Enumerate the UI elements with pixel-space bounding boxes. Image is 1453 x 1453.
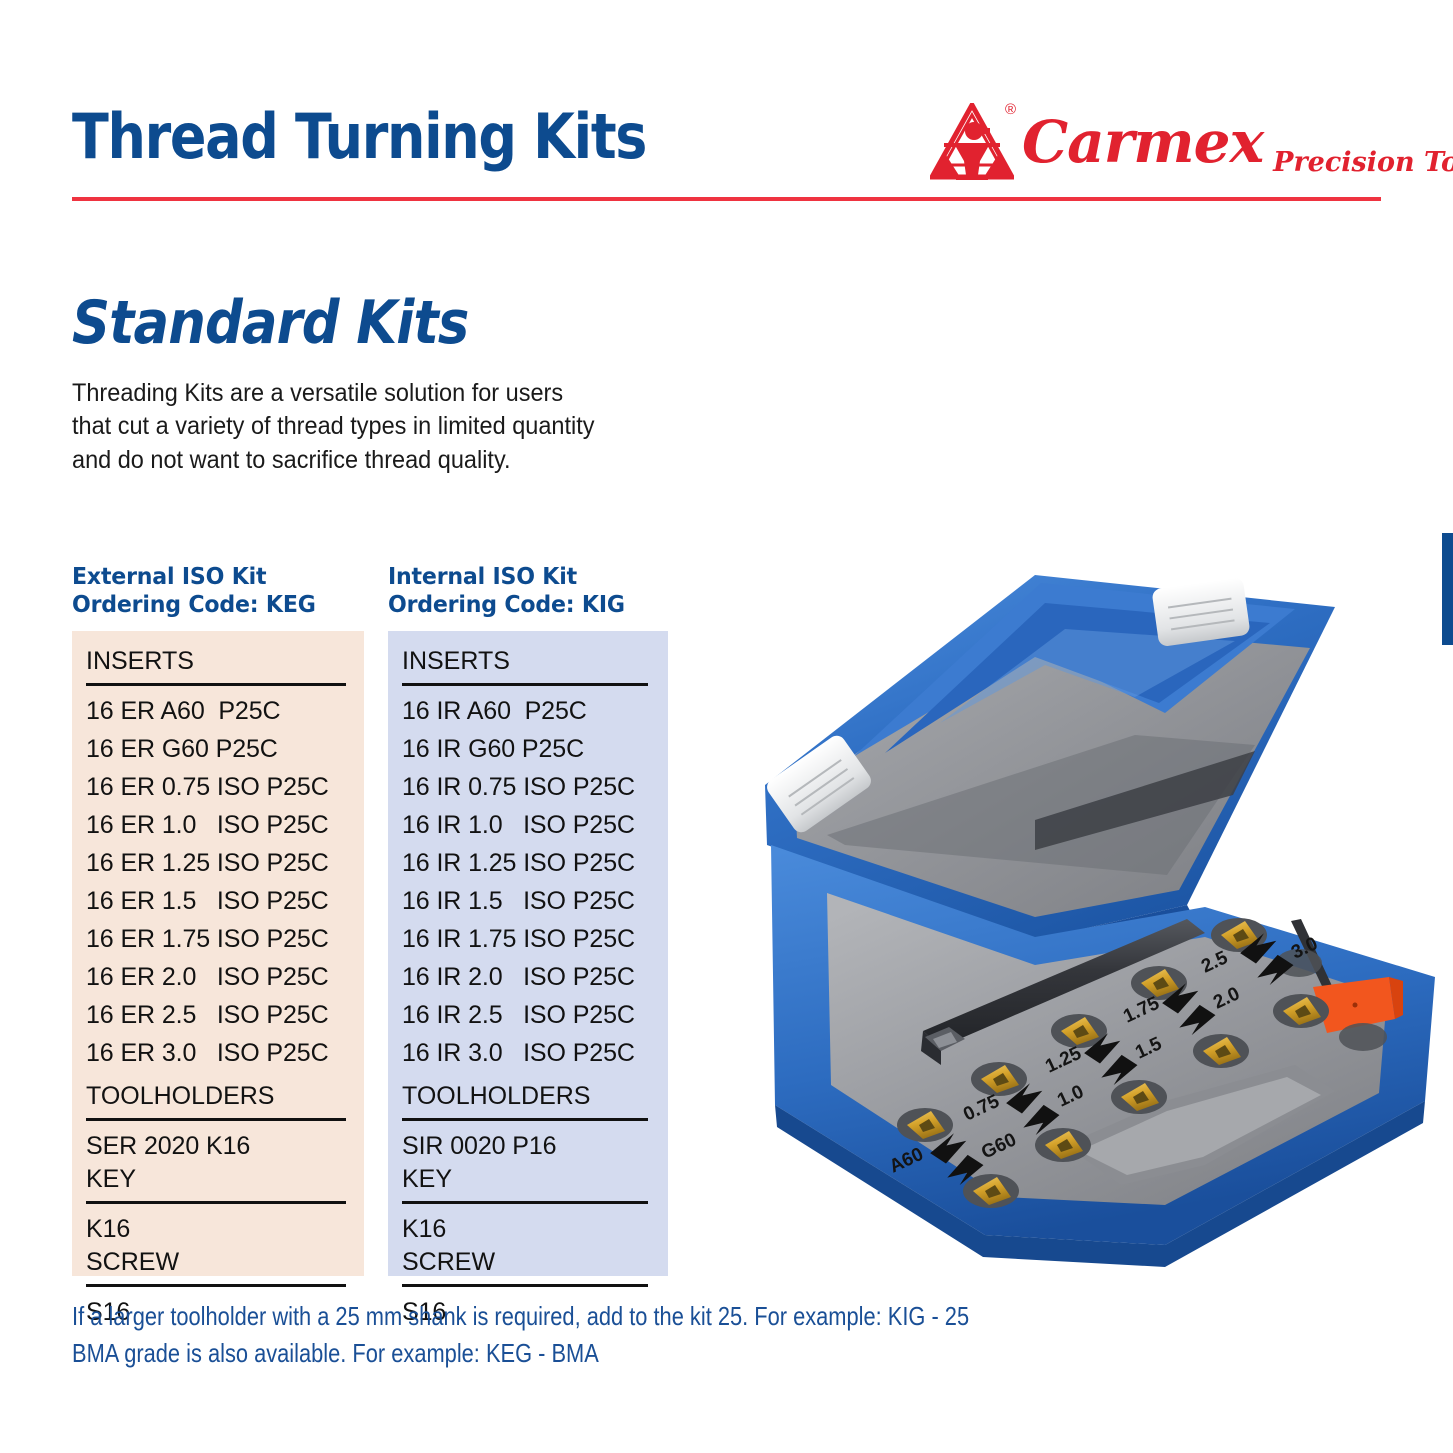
insert-10 (1035, 1128, 1091, 1162)
kit-spec-box: INSERTS 16 IR A60 P25C 16 IR G60 P25C 16… (388, 631, 668, 1276)
kit-column-external: External ISO Kit Ordering Code: KEG INSE… (72, 563, 364, 1276)
list-item: 16 ER 2.0 ISO P25C (72, 958, 364, 996)
group-divider (402, 683, 648, 686)
list-item: K16 (72, 1210, 364, 1248)
list-item: 16 IR G60 P25C (388, 730, 668, 768)
carmex-logo: ® Carmex Precision Tools Ltd. (930, 100, 1453, 184)
spacer (72, 1072, 364, 1082)
group-divider (402, 1118, 648, 1121)
logo-tagline-text: Precision Tools Ltd. (1273, 147, 1453, 184)
carmex-triangle-icon: ® (930, 103, 1014, 181)
page-title: Thread Turning Kits (72, 100, 646, 173)
list-item: 16 IR 1.0 ISO P25C (388, 806, 668, 844)
insert-g60 (963, 1174, 1019, 1208)
list-item: SER 2020 K16 (72, 1127, 364, 1165)
group-divider (402, 1284, 648, 1287)
list-item: 16 ER A60 P25C (72, 692, 364, 730)
list-item: 16 IR 0.75 ISO P25C (388, 768, 668, 806)
registered-trademark-icon: ® (1005, 101, 1016, 118)
list-item: 16 ER 3.0 ISO P25C (72, 1034, 364, 1072)
insert-30 (1273, 994, 1329, 1028)
list-item: 16 ER 2.5 ISO P25C (72, 996, 364, 1034)
insert-075 (971, 1062, 1027, 1096)
group-title: TOOLHOLDERS (388, 1082, 668, 1114)
list-item: SIR 0020 P16 (388, 1127, 668, 1165)
kit-group-inserts: INSERTS 16 IR A60 P25C 16 IR G60 P25C 16… (388, 647, 668, 1072)
list-item: 16 ER 1.75 ISO P25C (72, 920, 364, 958)
section-intro-text: Threading Kits are a versatile solution … (72, 377, 598, 477)
list-item: 16 ER G60 P25C (72, 730, 364, 768)
group-title: KEY (72, 1165, 364, 1197)
list-item: 16 IR 1.75 ISO P25C (388, 920, 668, 958)
list-item: 16 IR 1.25 ISO P25C (388, 844, 668, 882)
group-title: TOOLHOLDERS (72, 1082, 364, 1114)
kit-column-internal: Internal ISO Kit Ordering Code: KIG INSE… (388, 563, 668, 1276)
logo-brand-text: Carmex (1022, 113, 1263, 171)
kit-group-toolholders: TOOLHOLDERS SIR 0020 P16 (388, 1082, 668, 1165)
footnote-text: If a larger toolholder with a 25 mm shan… (72, 1298, 1080, 1372)
insert-a60 (897, 1108, 953, 1142)
insert-15 (1111, 1080, 1167, 1114)
section-title: Standard Kits (72, 288, 468, 358)
list-item: 16 IR 2.0 ISO P25C (388, 958, 668, 996)
insert-20 (1193, 1034, 1249, 1068)
spacer (388, 1072, 668, 1082)
group-title: INSERTS (72, 647, 364, 679)
kit-heading: Internal ISO Kit Ordering Code: KIG (388, 563, 657, 619)
group-divider (86, 1118, 346, 1121)
group-divider (402, 1201, 648, 1204)
list-item: 16 ER 1.25 ISO P25C (72, 844, 364, 882)
list-item: 16 IR A60 P25C (388, 692, 668, 730)
group-divider (86, 1284, 346, 1287)
kit-group-key: KEY K16 (388, 1165, 668, 1248)
header-divider (72, 197, 1381, 201)
group-title: SCREW (388, 1248, 668, 1280)
kit-heading: External ISO Kit Ordering Code: KEG (72, 563, 352, 619)
group-title: KEY (388, 1165, 668, 1197)
kit-group-inserts: INSERTS 16 ER A60 P25C 16 ER G60 P25C 16… (72, 647, 364, 1072)
list-item: 16 ER 1.5 ISO P25C (72, 882, 364, 920)
list-item: 16 IR 2.5 ISO P25C (388, 996, 668, 1034)
group-divider (86, 1201, 346, 1204)
group-divider (86, 683, 346, 686)
list-item: 16 IR 3.0 ISO P25C (388, 1034, 668, 1072)
list-item: 16 IR 1.5 ISO P25C (388, 882, 668, 920)
list-item: K16 (388, 1210, 668, 1248)
kit-spec-box: INSERTS 16 ER A60 P25C 16 ER G60 P25C 16… (72, 631, 364, 1276)
kit-group-key: KEY K16 (72, 1165, 364, 1248)
group-title: INSERTS (388, 647, 668, 679)
group-title: SCREW (72, 1248, 364, 1280)
list-item: 16 ER 1.0 ISO P25C (72, 806, 364, 844)
product-photo-kit-case: A60 G60 0.75 1.0 1.25 1.5 1.75 2.0 2.5 3… (735, 545, 1450, 1275)
list-item: 16 ER 0.75 ISO P25C (72, 768, 364, 806)
kit-group-toolholders: TOOLHOLDERS SER 2020 K16 (72, 1082, 364, 1165)
